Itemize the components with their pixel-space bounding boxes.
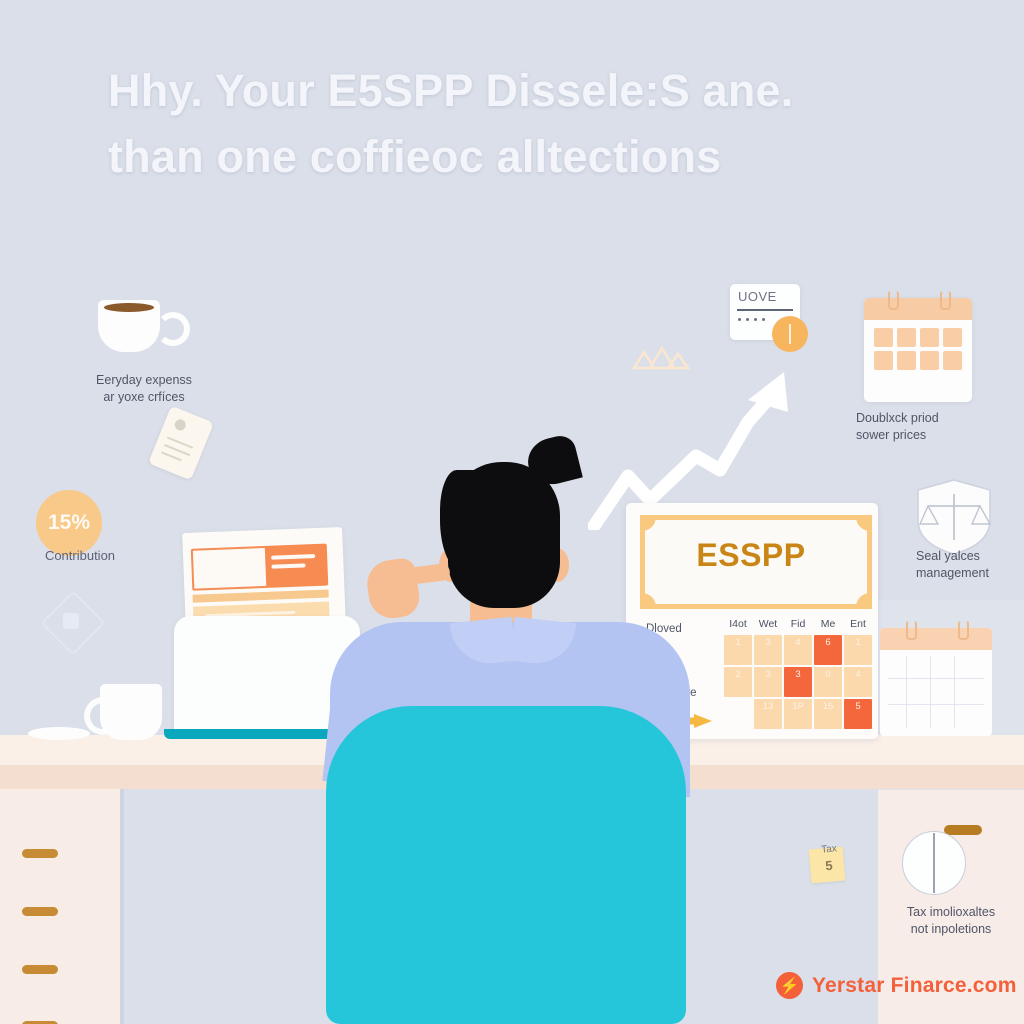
coffee-surface bbox=[104, 303, 154, 312]
certificate-cell: 5 bbox=[844, 699, 872, 729]
certificate-cell: 1 bbox=[724, 635, 752, 665]
uove-title: UOVE bbox=[738, 289, 777, 304]
contribution-value: 15% bbox=[48, 511, 90, 535]
split-circle-icon bbox=[902, 831, 966, 895]
seal-values-label: Seal yalces management bbox=[916, 548, 1024, 582]
calendar-ring bbox=[958, 620, 969, 640]
hair-side bbox=[440, 470, 482, 570]
certificate-column-header: Fid bbox=[784, 618, 812, 630]
frame-corner bbox=[856, 515, 872, 531]
contribution-badge: 15% bbox=[36, 490, 102, 556]
coin-icon bbox=[772, 316, 808, 352]
cup-handle bbox=[156, 312, 190, 346]
headline-line-2: than one coffieoc alltections bbox=[108, 124, 968, 190]
desk-cup bbox=[100, 684, 162, 740]
tag-line bbox=[161, 451, 182, 461]
calendar-grid-icon bbox=[880, 628, 992, 736]
drawer-handle[interactable] bbox=[22, 965, 58, 974]
uove-divider bbox=[737, 309, 793, 311]
gold-bar-icon bbox=[944, 825, 982, 835]
brand-footer[interactable]: ⚡ Yerstar Finarce.com bbox=[776, 972, 1017, 999]
infographic-canvas: Hhy. Your E5SPP Dissele:S ane. than one … bbox=[0, 0, 1024, 1024]
sticky-note-value: 5 bbox=[811, 857, 846, 875]
certificate-cell: 15 bbox=[814, 699, 842, 729]
certificate-cell: 4 bbox=[784, 635, 812, 665]
certificate-cell: 6 bbox=[814, 635, 842, 665]
certificate-cell: 1P bbox=[784, 699, 812, 729]
frame-corner bbox=[640, 515, 656, 531]
certificate-cell: 13 bbox=[754, 699, 782, 729]
certificate-column-header: Me bbox=[814, 618, 842, 630]
tax-implications-label: Tax imolioxaltes not inpoletions bbox=[886, 904, 1016, 938]
chart-plot-area bbox=[193, 548, 266, 589]
certificate-cell: 3 bbox=[754, 667, 782, 697]
double-period-label: Doublxck priod sower prices bbox=[856, 410, 986, 444]
uove-dots bbox=[738, 318, 765, 321]
headline-line-1: Hhy. Your E5SPP Dissele:S ane. bbox=[108, 65, 793, 116]
drawer-handle[interactable] bbox=[22, 907, 58, 916]
calendar-ring bbox=[888, 290, 899, 310]
calendar-ring bbox=[940, 290, 951, 310]
page-title: Hhy. Your E5SPP Dissele:S ane. than one … bbox=[108, 58, 968, 190]
tag-hole bbox=[173, 418, 187, 432]
calendar-day-grid bbox=[874, 328, 962, 370]
certificate-title: ESSPP bbox=[640, 537, 862, 574]
contribution-label: Contribution bbox=[20, 548, 140, 563]
certificate-cell: 3 bbox=[784, 667, 812, 697]
lightning-bolt-icon: ⚡ bbox=[776, 972, 803, 999]
certificate-cell: 4 bbox=[844, 667, 872, 697]
certificate-column-headers: I4otWetFidMeEnt bbox=[724, 618, 872, 630]
mountains-icon bbox=[630, 344, 690, 370]
brand-name: Yerstar Finarce.com bbox=[812, 974, 1017, 998]
chart-legend-bar bbox=[271, 563, 305, 568]
certificate-cell: 3 bbox=[754, 635, 782, 665]
certificate-cell bbox=[724, 699, 752, 729]
frame-corner bbox=[640, 593, 656, 609]
diamond-inner-glyph bbox=[63, 613, 79, 629]
certificate-column-header: I4ot bbox=[724, 618, 752, 630]
cup-and-saucer-icon bbox=[28, 727, 90, 740]
calendar-ring bbox=[906, 620, 917, 640]
certificate-cell: 1 bbox=[844, 635, 872, 665]
office-chair bbox=[326, 706, 686, 1024]
certificate-cell: 2 bbox=[724, 667, 752, 697]
scales-shield-icon bbox=[908, 476, 1000, 558]
drawer-handle[interactable] bbox=[22, 849, 58, 858]
drawer-cabinet bbox=[0, 789, 120, 1024]
certificate-grid: 1346123304131P155 bbox=[724, 635, 872, 729]
certificate-column-header: Ent bbox=[844, 618, 872, 630]
certificate-column-header: Wet bbox=[754, 618, 782, 630]
calendar-lines bbox=[888, 656, 984, 728]
certificate-cell: 0 bbox=[814, 667, 842, 697]
upward-trend-arrow bbox=[588, 330, 798, 530]
document-band bbox=[193, 590, 329, 603]
calendar-header bbox=[880, 628, 992, 650]
document-chart bbox=[191, 544, 329, 591]
frame-corner bbox=[856, 593, 872, 609]
chart-legend-bar bbox=[271, 554, 315, 560]
calendar-header bbox=[864, 298, 972, 320]
calendar-icon bbox=[864, 298, 972, 402]
everyday-expense-label: Eeryday expenss ar yoxe crfíces bbox=[56, 372, 232, 406]
